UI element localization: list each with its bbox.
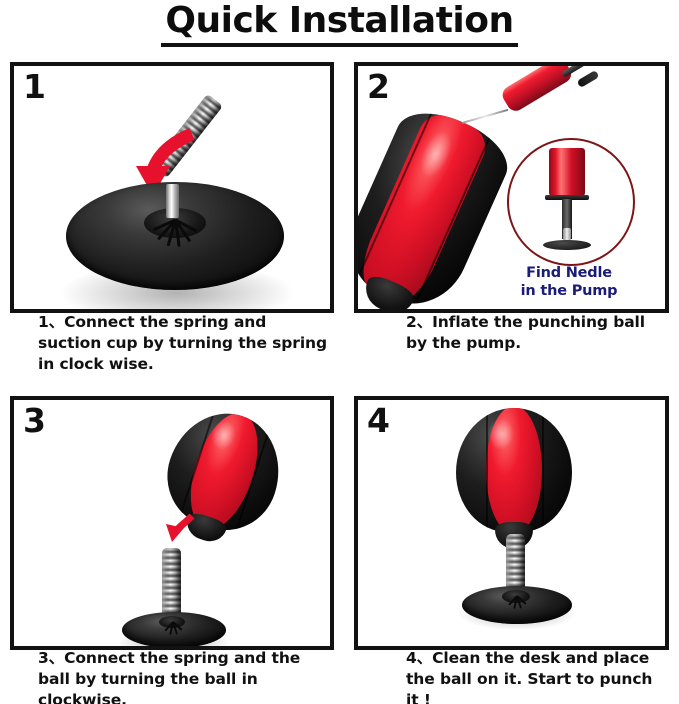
step-caption-3: 3、Connect the spring and the ball by tur…: [10, 648, 334, 704]
ball-gloss: [488, 418, 514, 450]
pump-needle: [462, 109, 509, 124]
page-title: Quick Installation: [161, 0, 517, 47]
ball-seam: [542, 408, 544, 532]
pump-barrel: [499, 62, 574, 114]
ball-body: [456, 408, 572, 532]
base-bolt: [166, 184, 179, 218]
inset-label-line2: in the Pump: [507, 282, 631, 300]
needle-closeup-inset: [507, 138, 635, 266]
title-bar: Quick Installation: [0, 0, 679, 56]
illustration-ball-and-pump: Find Nedle in the Pump: [358, 66, 665, 309]
step-panel-3: 3: [10, 396, 334, 650]
ball-seam: [486, 408, 488, 532]
step-panel-1: 1: [10, 62, 334, 313]
inset-pump-base: [543, 240, 591, 250]
step-caption-4: 4、Clean the desk and place the ball on i…: [354, 648, 669, 704]
step-cell-3: 3: [0, 390, 344, 704]
step-cell-4: 4: [344, 390, 679, 704]
quick-installation-infographic: Quick Installation 1: [0, 0, 679, 704]
illustration-assembled-punching-ball: [358, 400, 665, 646]
punching-ball: [354, 99, 518, 313]
step-number-1: 1: [23, 68, 46, 106]
step-panel-2: 2: [354, 62, 669, 313]
inset-label-line1: Find Nedle: [507, 264, 631, 282]
inset-label: Find Nedle in the Pump: [507, 264, 631, 300]
step-panel-4: 4: [354, 396, 669, 650]
illustration-ball-above-spring: [14, 400, 330, 646]
step-number-2: 2: [367, 68, 390, 106]
step-cell-1: 1: [0, 56, 344, 390]
step-caption-2: 2、Inflate the punching ball by the pump.: [354, 312, 669, 354]
punching-ball: [456, 408, 572, 532]
steps-grid: 1: [0, 56, 679, 704]
step-number-4: 4: [367, 402, 390, 440]
inset-pump-barrel: [549, 148, 585, 196]
illustration-spring-and-suction-cup: [14, 66, 330, 309]
step-cell-2: 2: [344, 56, 679, 390]
step-caption-1: 1、Connect the spring and suction cup by …: [10, 312, 334, 375]
step-number-3: 3: [23, 402, 46, 440]
pump-handle: [577, 70, 600, 88]
